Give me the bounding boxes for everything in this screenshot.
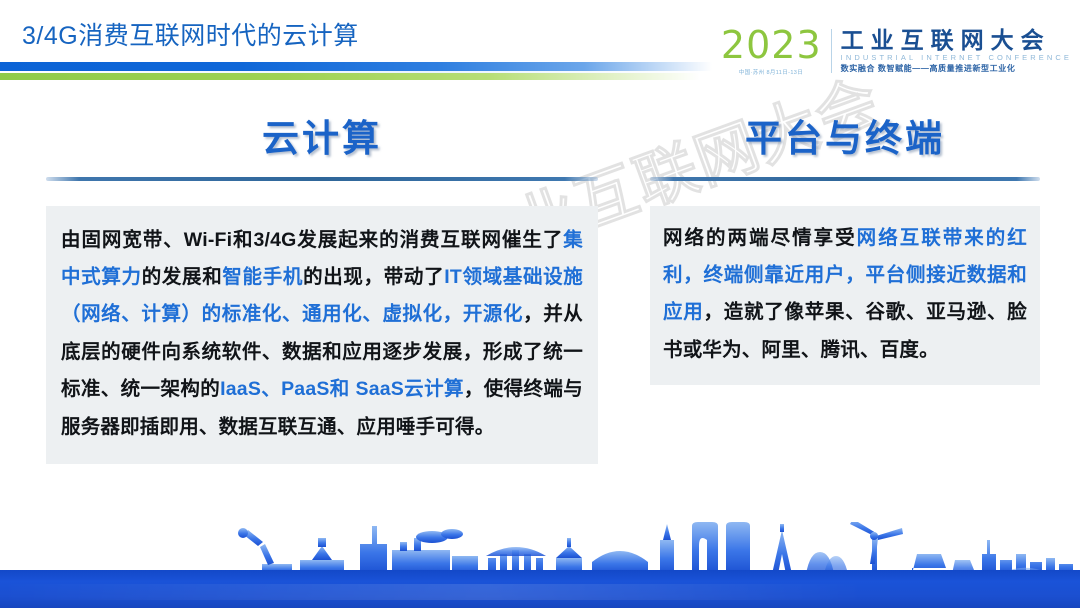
logo-year-block: 2023 中国·苏州 8月11日-13日 bbox=[721, 26, 831, 76]
text-segment-2: ，造就了像苹果、谷歌、亚马逊、脸书或华为、阿里、腾讯、百度。 bbox=[663, 301, 1027, 360]
conference-logo: 2023 中国·苏州 8月11日-13日 工业互联网大会 INDUSTRIAL … bbox=[721, 20, 1072, 82]
column-right-body: 网络的两端尽情享受网络互联带来的红利，终端侧靠近用户，平台侧接近数据和应用，造就… bbox=[650, 206, 1040, 386]
text-segment-7: IaaS、PaaS和 SaaS云计算 bbox=[220, 378, 464, 400]
header-rule-blue bbox=[0, 62, 712, 71]
column-left-heading: 云计算 bbox=[46, 118, 598, 165]
logo-name-en: INDUSTRIAL INTERNET CONFERENCE bbox=[841, 52, 1072, 63]
column-platform-terminal: 平台与终端 网络的两端尽情享受网络互联带来的红利，终端侧靠近用户，平台侧接近数据… bbox=[650, 118, 1040, 385]
logo-divider bbox=[831, 29, 832, 73]
footer-skyline bbox=[0, 528, 1080, 608]
logo-name-block: 工业互联网大会 INDUSTRIAL INTERNET CONFERENCE 数… bbox=[841, 28, 1072, 75]
text-segment-0: 网络的两端尽情享受 bbox=[663, 227, 857, 249]
logo-date: 中国·苏州 8月11日-13日 bbox=[739, 67, 803, 75]
skyline-silhouette-icon bbox=[0, 522, 1080, 574]
column-cloud-computing: 云计算 由固网宽带、Wi-Fi和3/4G发展起来的消费互联网催生了集中式算力的发… bbox=[46, 118, 598, 464]
skyline-ground-sheen bbox=[0, 584, 1080, 600]
logo-year: 2023 bbox=[721, 26, 822, 64]
column-left-body: 由固网宽带、Wi-Fi和3/4G发展起来的消费互联网催生了集中式算力的发展和智能… bbox=[46, 206, 598, 465]
column-right-underline bbox=[650, 177, 1040, 181]
text-segment-0: 由固网宽带、Wi-Fi和3/4G发展起来的消费互联网催生了 bbox=[61, 229, 563, 251]
column-right-heading: 平台与终端 bbox=[650, 118, 1040, 165]
header-rule-green bbox=[0, 73, 700, 80]
text-segment-4: 的出现，带动了 bbox=[303, 266, 444, 288]
text-segment-2: 的发展和 bbox=[142, 266, 223, 288]
text-segment-3: 智能手机 bbox=[222, 266, 303, 288]
page-title: 3/4G消费互联网时代的云计算 bbox=[22, 16, 359, 52]
logo-tagline: 数实融合 数智赋能——高质量推进新型工业化 bbox=[841, 63, 1072, 74]
logo-name-cn: 工业互联网大会 bbox=[841, 28, 1072, 52]
slide-canvas: 3/4G消费互联网时代的云计算 2023 中国·苏州 8月11日-13日 工业互… bbox=[0, 0, 1080, 608]
column-left-underline bbox=[46, 177, 598, 181]
